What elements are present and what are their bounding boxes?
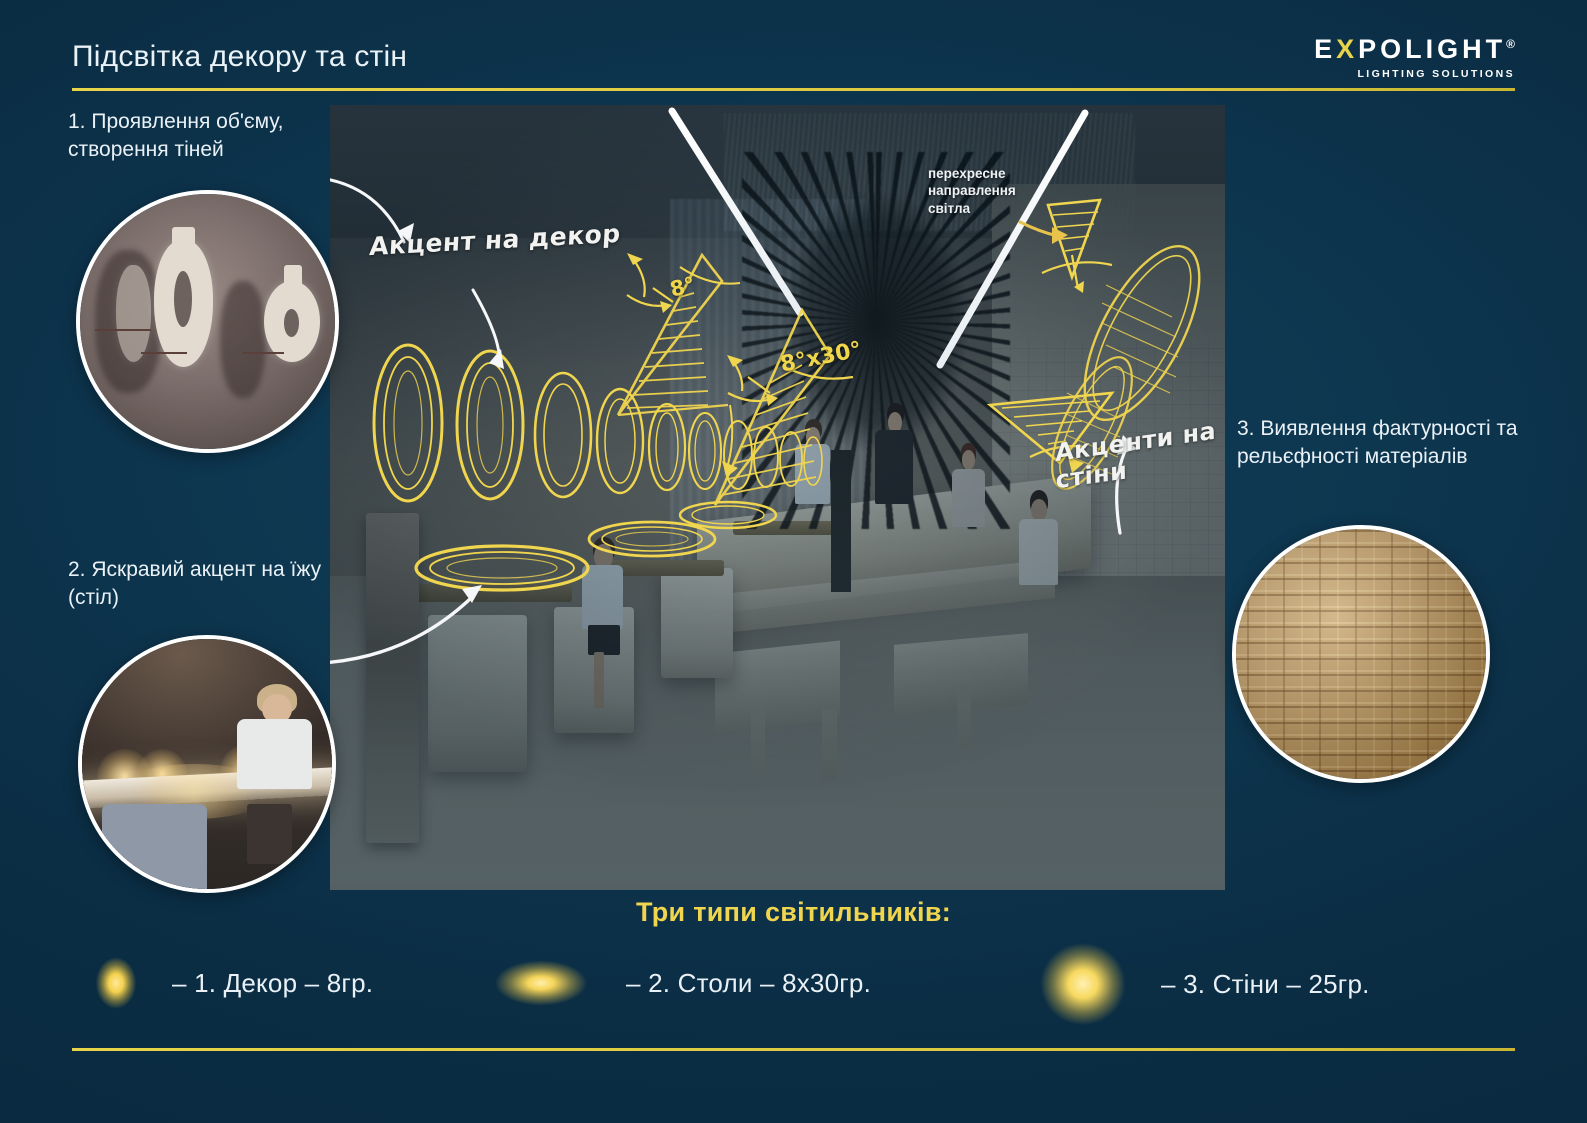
brand-logo: EXPOLIGHT® LIGHTING SOLUTIONS bbox=[1314, 36, 1515, 80]
header-divider bbox=[72, 88, 1515, 91]
table-light-pool-back bbox=[680, 502, 776, 528]
caption-texture-relief: 3. Виявлення фактурності та рельєфності … bbox=[1237, 415, 1527, 470]
photo-decor-vases bbox=[76, 190, 339, 453]
luminaire-legend: – 1. Декор – 8гр. – 2. Столи – 8х30гр. –… bbox=[72, 948, 1515, 1026]
lighting-sketch-overlay: Акцент на декор Акценти на стіни перехре… bbox=[330, 105, 1225, 890]
table-light-pool-mid bbox=[589, 522, 715, 556]
logo-letters-rest: POLIGHT bbox=[1358, 34, 1506, 64]
legend-item-decor: – 1. Декор – 8гр. bbox=[90, 950, 373, 1016]
caption-volume-shadows: 1. Проявлення об'єму, створення тіней bbox=[68, 108, 328, 163]
legend-label-decor: – 1. Декор – 8гр. bbox=[172, 968, 373, 999]
slide-root: Підсвітка декору та стін EXPOLIGHT® LIGH… bbox=[0, 0, 1587, 1123]
legend-item-walls: – 3. Стіни – 25гр. bbox=[1027, 930, 1370, 1038]
beam-cone-b bbox=[715, 310, 830, 505]
sketch-svg bbox=[330, 105, 1225, 890]
photo-table-accent bbox=[78, 635, 336, 893]
spot-narrow-icon bbox=[90, 950, 142, 1016]
photo-table-accent-image bbox=[82, 639, 332, 889]
table-light-pool-front bbox=[416, 546, 588, 590]
logo-letter-x: X bbox=[1336, 34, 1358, 64]
footer-divider bbox=[72, 1048, 1515, 1051]
photo-wall-texture-image bbox=[1236, 529, 1486, 779]
caption-food-accent: 2. Яскравий акцент на їжу (стіл) bbox=[68, 556, 328, 611]
spot-wide-icon bbox=[1027, 930, 1139, 1038]
arrow-to-table-pool bbox=[330, 585, 482, 663]
logo-tagline: LIGHTING SOLUTIONS bbox=[1314, 68, 1515, 80]
spot-elliptical-icon bbox=[482, 954, 600, 1012]
photo-decor-vases-image bbox=[80, 194, 335, 449]
interior-render: Акцент на декор Акценти на стіни перехре… bbox=[330, 105, 1225, 890]
legend-label-tables: – 2. Столи – 8х30гр. bbox=[626, 968, 871, 999]
logo-wordmark: EXPOLIGHT® bbox=[1314, 36, 1515, 63]
types-title: Три типи світильників: bbox=[0, 897, 1587, 928]
legend-item-tables: – 2. Столи – 8х30гр. bbox=[482, 954, 871, 1012]
wall-wash-ellipse-large bbox=[1062, 229, 1223, 436]
note-cross-direction: перехресне направлення світла bbox=[928, 165, 1048, 217]
registered-trademark-icon: ® bbox=[1506, 37, 1515, 51]
legend-label-walls: – 3. Стіни – 25гр. bbox=[1161, 969, 1370, 1000]
photo-wall-texture bbox=[1232, 525, 1490, 783]
page-title: Підсвітка декору та стін bbox=[72, 40, 407, 74]
logo-letter-e: E bbox=[1314, 34, 1336, 64]
decor-ellipse-row bbox=[374, 345, 822, 501]
beam-cone-cross-upper bbox=[1042, 200, 1112, 293]
